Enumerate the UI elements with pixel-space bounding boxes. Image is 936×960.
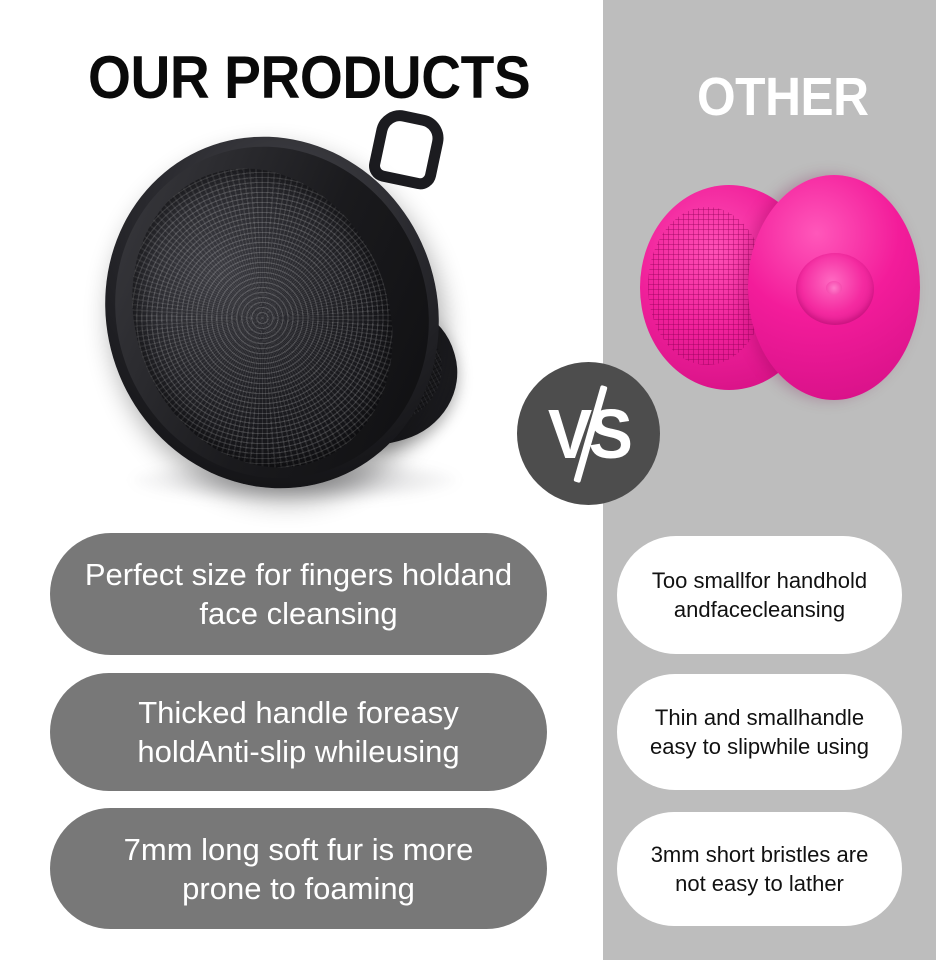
feature-pill-other-3-text: 3mm short bristles are not easy to lathe… — [635, 840, 884, 898]
feature-pill-our-3: 7mm long soft fur is more prone to foami… — [50, 808, 547, 929]
brush-hanging-loop-icon — [366, 106, 448, 193]
heading-our-products: OUR PRODUCTS — [88, 48, 530, 108]
vs-badge-icon: VS — [517, 362, 660, 505]
brush-bristle-field — [88, 129, 436, 507]
comparison-infographic: OUR PRODUCTS Perfect size for fingers ho… — [0, 0, 936, 960]
feature-pill-our-1: Perfect size for fingers holdand face cl… — [50, 533, 547, 655]
feature-pill-other-3: 3mm short bristles are not easy to lathe… — [617, 812, 902, 926]
product-image-our-brush — [95, 105, 495, 520]
feature-pill-our-2-text: Thicked handle foreasy holdAnti-slip whi… — [80, 693, 517, 771]
left-panel-our-products: OUR PRODUCTS Perfect size for fingers ho… — [0, 0, 603, 960]
product-image-other-pads — [630, 175, 920, 400]
pink-pad-knob-highlight — [826, 281, 842, 295]
feature-pill-other-2-text: Thin and smallhandle easy to slipwhile u… — [635, 703, 884, 761]
feature-pill-other-1-text: Too smallfor handhold andfacecleansing — [635, 566, 884, 624]
feature-pill-our-3-text: 7mm long soft fur is more prone to foami… — [80, 830, 517, 908]
feature-pill-our-2: Thicked handle foreasy holdAnti-slip whi… — [50, 673, 547, 791]
heading-other: OTHER — [697, 70, 869, 124]
pink-pad-smooth — [748, 175, 920, 400]
feature-pill-other-2: Thin and smallhandle easy to slipwhile u… — [617, 674, 902, 790]
feature-pill-our-1-text: Perfect size for fingers holdand face cl… — [80, 555, 517, 633]
feature-pill-other-1: Too smallfor handhold andfacecleansing — [617, 536, 902, 654]
pink-pad-center-knob — [796, 253, 874, 325]
